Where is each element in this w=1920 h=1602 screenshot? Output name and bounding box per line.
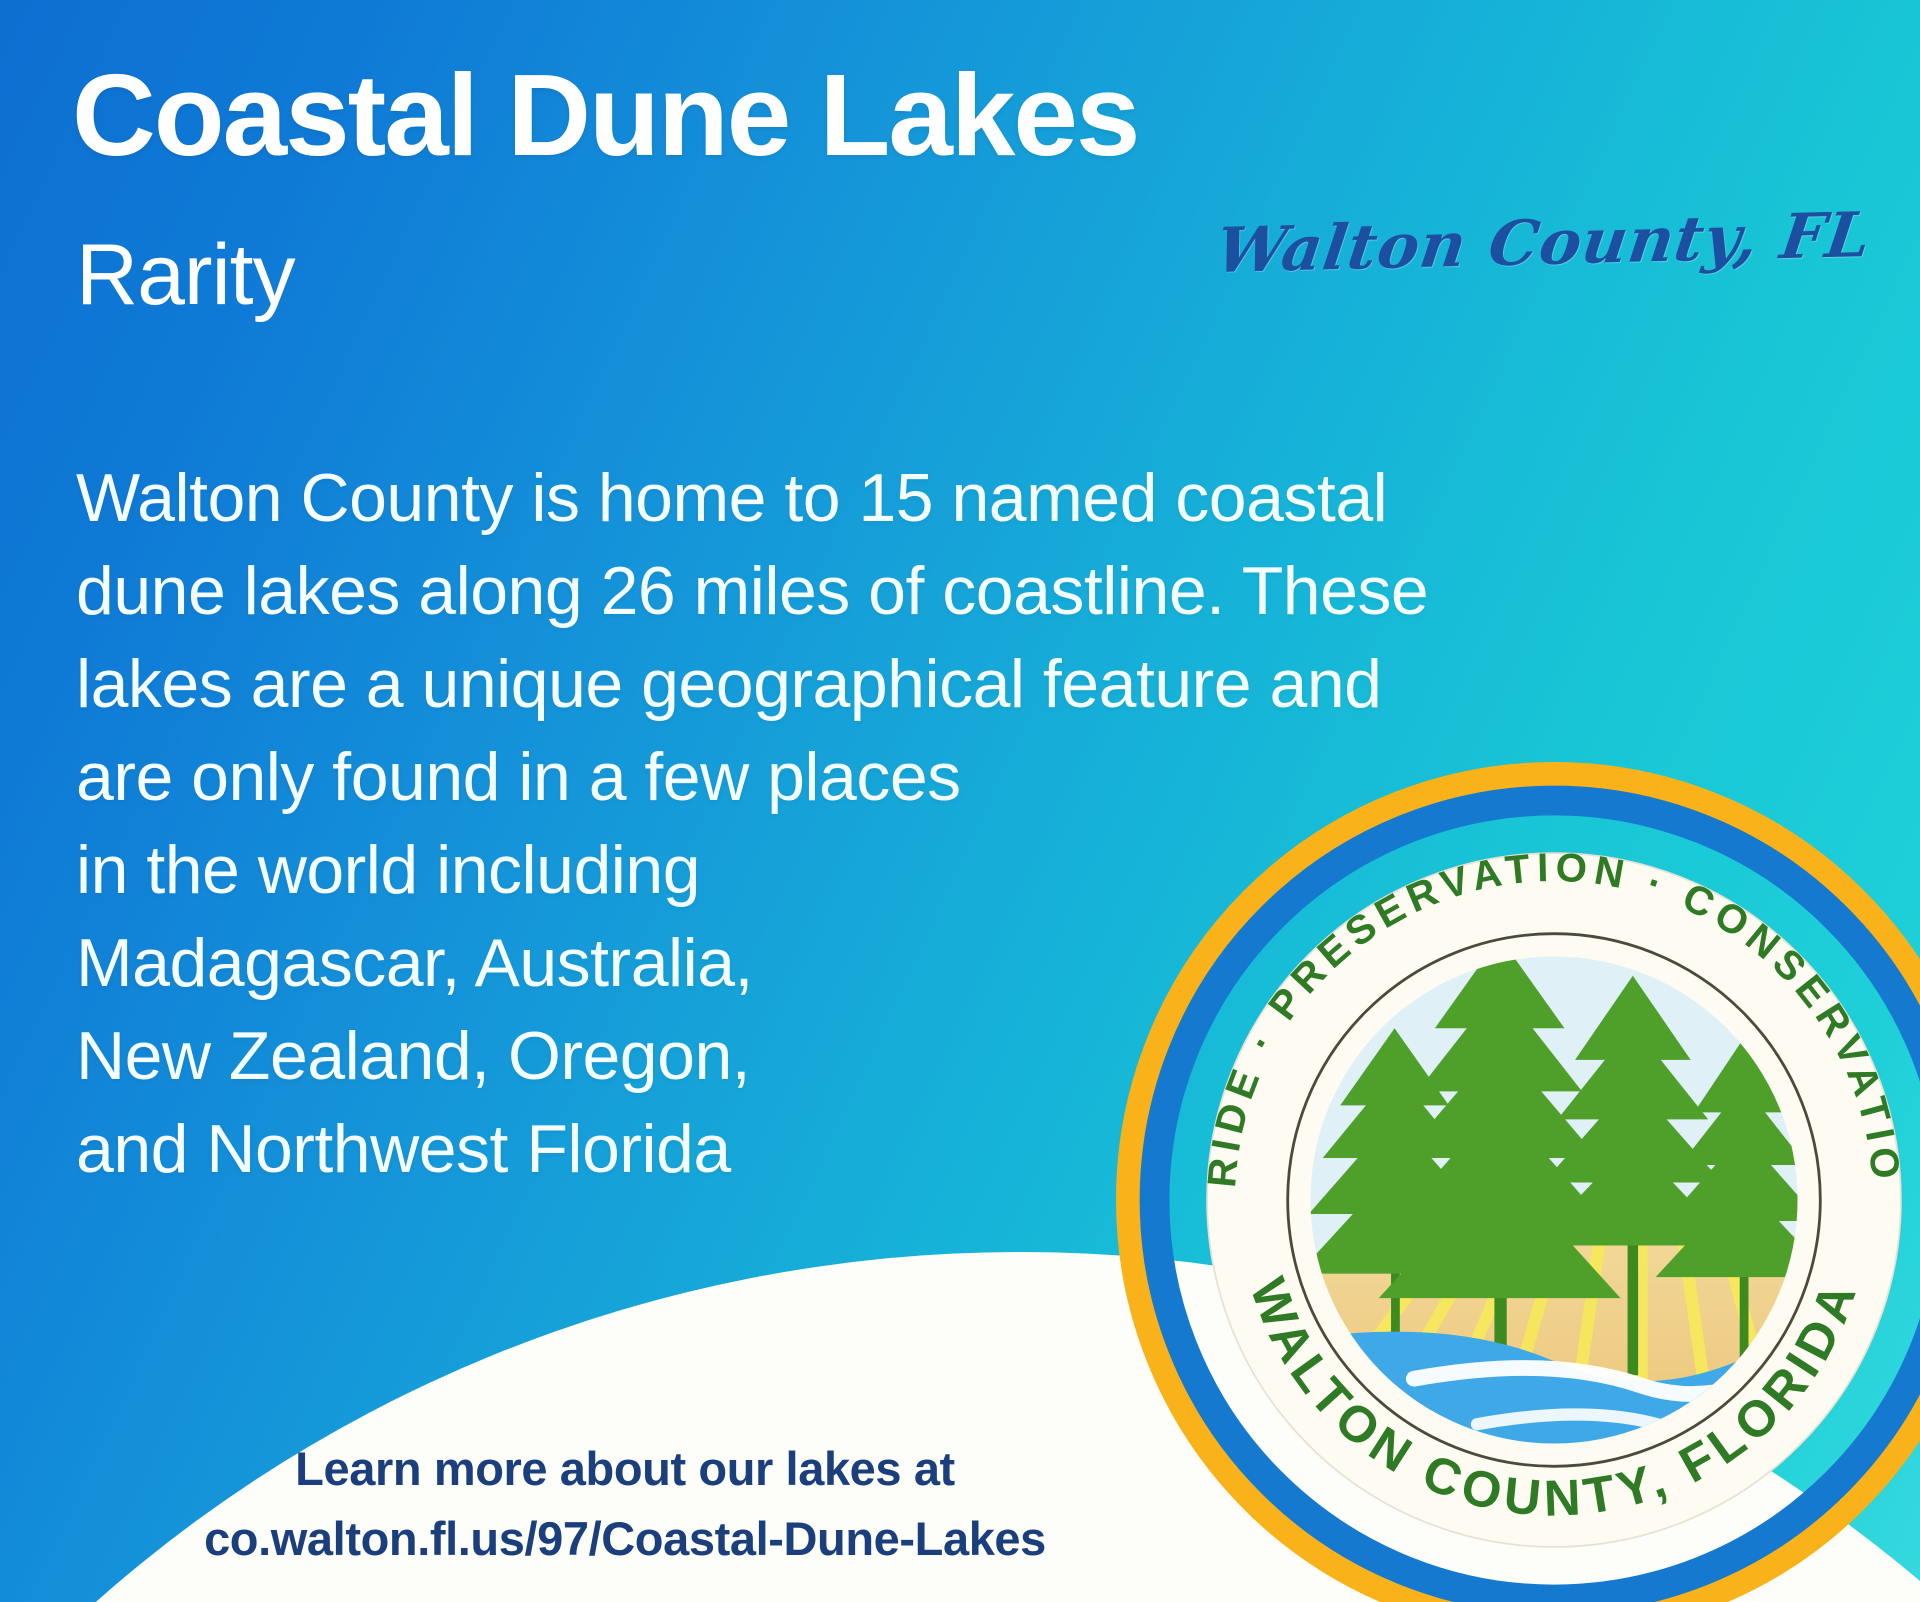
- footer-learn-more-label: Learn more about our lakes at: [0, 1434, 1250, 1504]
- infographic-poster: Coastal Dune Lakes Rarity Walton County,…: [0, 0, 1920, 1602]
- body-line: dune lakes along 26 miles of coastline. …: [76, 545, 1506, 638]
- page-subtitle: Rarity: [76, 232, 295, 318]
- footer-block: Learn more about our lakes at co.walton.…: [0, 1434, 1250, 1574]
- location-script-label: Walton County, FL: [1212, 198, 1876, 287]
- footer-url-link[interactable]: co.walton.fl.us/97/Coastal-Dune-Lakes: [0, 1504, 1250, 1574]
- walton-county-seal: PRIDE · PRESERVATION · CONSERVATION WALT…: [1116, 762, 1920, 1602]
- body-line: lakes are a unique geographical feature …: [76, 638, 1506, 731]
- page-title: Coastal Dune Lakes: [72, 56, 1138, 174]
- body-line: Walton County is home to 15 named coasta…: [76, 452, 1506, 545]
